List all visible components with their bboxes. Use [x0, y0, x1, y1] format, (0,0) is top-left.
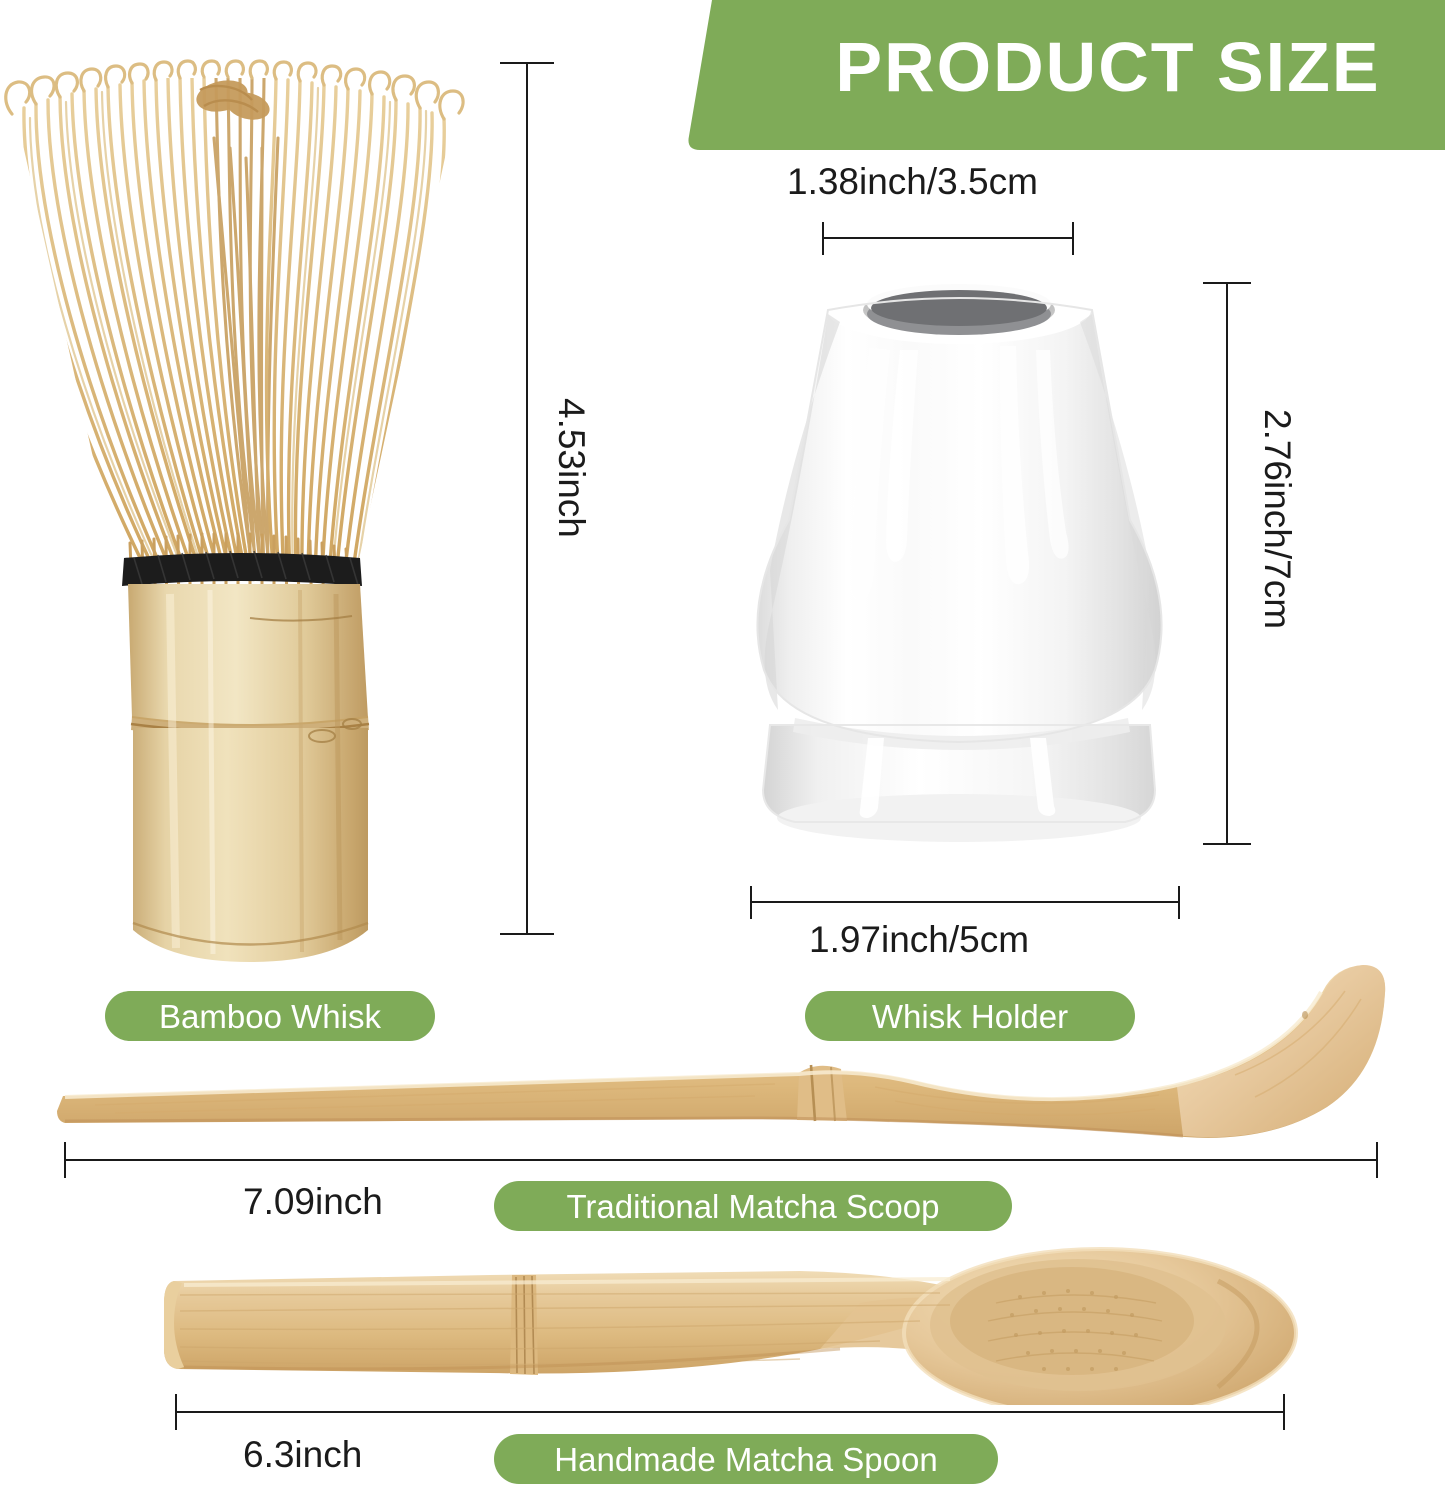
holder-height-label: 2.76inch/7cm [1259, 409, 1296, 629]
holder-base-width-dimension-line [750, 901, 1180, 903]
label-matcha-scoop: Traditional Matcha Scoop [494, 1181, 1012, 1231]
label-matcha-spoon: Handmade Matcha Spoon [494, 1434, 998, 1484]
spoon-length-dimension-line [175, 1411, 1285, 1413]
holder-height-tick-top [1203, 282, 1251, 284]
matcha-spoon-icon [160, 1245, 1310, 1405]
scoop-length-tick-right [1376, 1142, 1378, 1178]
whisk-height-tick-bottom [500, 933, 554, 935]
whisk-holder-icon [700, 270, 1220, 870]
scoop-length-label: 7.09inch [243, 1183, 383, 1220]
scoop-length-dimension-line [64, 1159, 1378, 1161]
spoon-length-tick-left [175, 1394, 177, 1430]
holder-base-width-tick-left [750, 886, 752, 919]
matcha-scoop-icon [55, 955, 1395, 1155]
holder-top-width-label: 1.38inch/3.5cm [787, 163, 1038, 200]
holder-base-width-label: 1.97inch/5cm [809, 921, 1029, 958]
holder-top-width-tick-right [1072, 222, 1074, 255]
holder-base-width-tick-right [1178, 886, 1180, 919]
spoon-length-label: 6.3inch [243, 1436, 362, 1473]
scoop-length-tick-left [64, 1142, 66, 1178]
spoon-length-tick-right [1283, 1394, 1285, 1430]
holder-height-tick-bottom [1203, 843, 1251, 845]
bamboo-whisk-icon [0, 18, 470, 968]
whisk-height-dimension-line [526, 62, 528, 935]
whisk-height-label: 4.53inch [553, 398, 590, 538]
whisk-thread-band [122, 553, 362, 586]
holder-top-width-tick-left [822, 222, 824, 255]
product-size-infographic: PRODUCT SIZE [0, 0, 1445, 1496]
header-banner: PRODUCT SIZE [686, 0, 1445, 150]
whisk-height-tick-top [500, 62, 554, 64]
page-title: PRODUCT SIZE [778, 32, 1438, 102]
holder-top-width-dimension-line [822, 237, 1074, 239]
holder-height-dimension-line [1226, 282, 1228, 845]
